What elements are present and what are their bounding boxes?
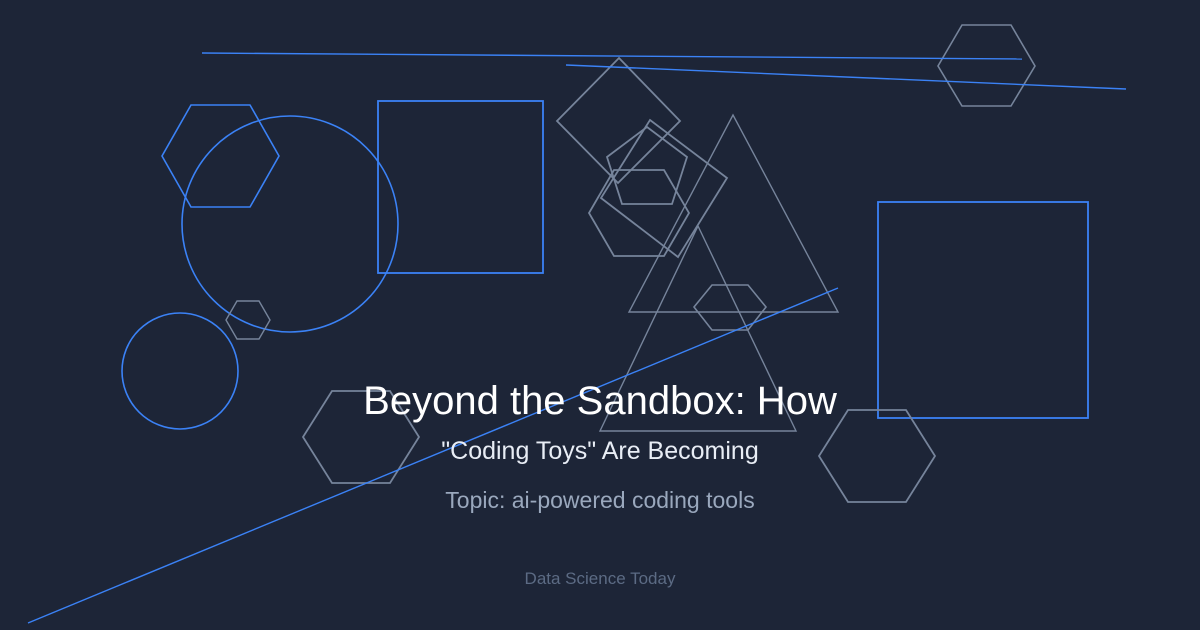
hexagon-gray-lower-right-icon	[819, 410, 935, 502]
square-blue-upper-left-icon	[378, 101, 543, 273]
background-geometry	[0, 0, 1200, 630]
hexagon-gray-center-cluster-icon	[589, 170, 689, 256]
line-blue-diagonal-icon	[28, 288, 838, 623]
line-blue-top-2-icon	[566, 65, 1126, 89]
triangle-gray-large-icon	[629, 115, 838, 312]
line-blue-top-1-icon	[202, 53, 1022, 59]
square-blue-right-icon	[878, 202, 1088, 418]
hexagon-gray-top-right-icon	[938, 25, 1035, 106]
circle-blue-small-icon	[122, 313, 238, 429]
circle-blue-large-icon	[182, 116, 398, 332]
hexagon-gray-small-left-icon	[226, 301, 270, 339]
social-card: Beyond the Sandbox: How "Coding Toys" Ar…	[0, 0, 1200, 630]
square-gray-rotated-a-icon	[557, 58, 680, 183]
